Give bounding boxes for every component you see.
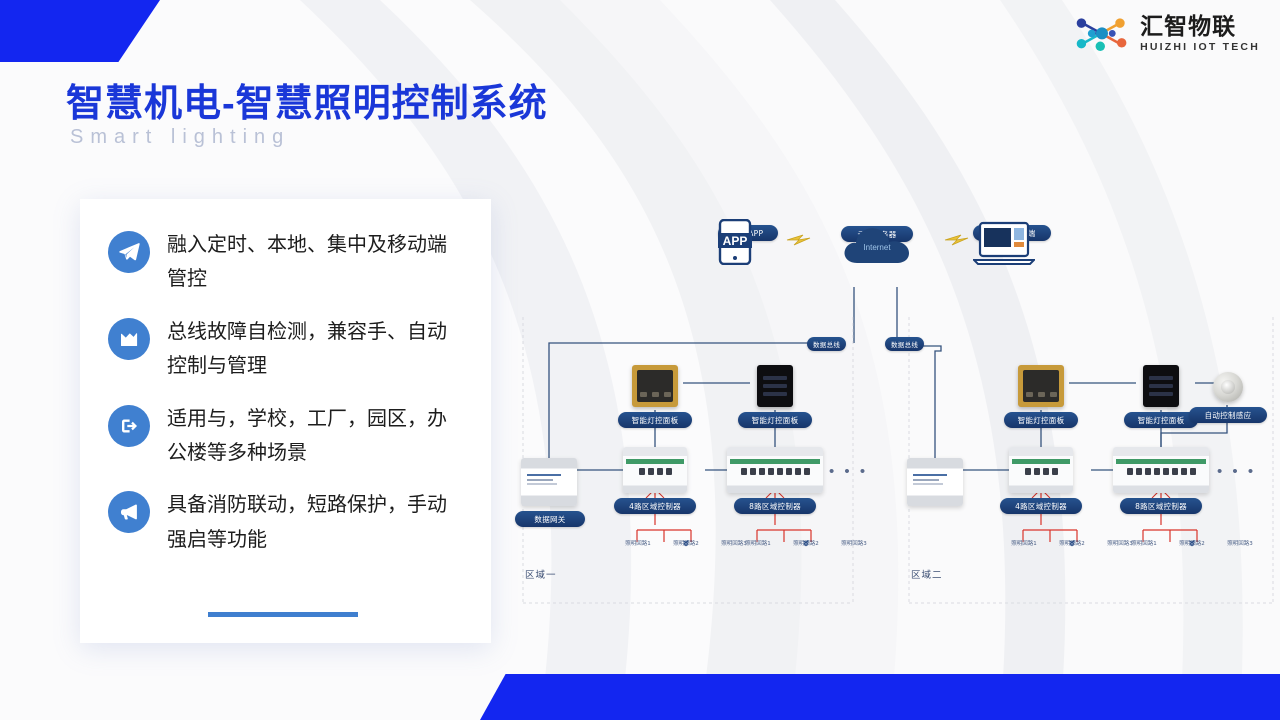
zone-two-gateway [907, 458, 965, 506]
feature-text: 具备消防联动，短路保护，手动强启等功能 [167, 487, 465, 556]
zone-one-gateway: 数据网关 [521, 458, 579, 527]
mobile-app-node: APP 移动APP [718, 219, 778, 241]
smart-light-panel-icon [1018, 365, 1064, 407]
molecule-logo-icon [1072, 12, 1132, 56]
feature-text: 总线故障自检测，兼容手、自动控制与管理 [167, 314, 465, 383]
brand-logo: 汇智物联 HUIZHI IOT TECH [1072, 12, 1260, 56]
chart-line-icon [108, 318, 150, 360]
megaphone-icon [108, 491, 150, 533]
panel-label: 智能灯控面板 [738, 412, 812, 428]
zone-one-panel-gold: 智能灯控面板 [632, 365, 692, 428]
zone-two-controller-8: 8路区域控制器 [1113, 447, 1209, 514]
zone-two-ellipsis: • • • [1217, 463, 1256, 480]
zone-controller-icon [623, 447, 687, 493]
cloud-label-text: Internet [863, 243, 891, 252]
zone-two-circuit-group-a: 照明回路1 照明回路2 照明回路3 [1003, 539, 1141, 547]
feature-item: 总线故障自检测，兼容手、自动控制与管理 [80, 314, 491, 383]
feature-item: 适用与，学校，工厂，园区，办公楼等多种场景 [80, 401, 491, 470]
feature-item: 具备消防联动，短路保护，手动强启等功能 [80, 487, 491, 556]
feature-card: 融入定时、本地、集中及移动端管控 总线故障自检测，兼容手、自动控制与管理 适用与… [80, 199, 491, 643]
logo-name-cn: 汇智物联 [1140, 15, 1260, 38]
panel-label: 智能灯控面板 [1124, 412, 1198, 428]
gateway-label: 数据网关 [515, 511, 585, 527]
zone-two-panel-gold: 智能灯控面板 [1018, 365, 1078, 428]
controller-label: 4路区域控制器 [1000, 498, 1082, 514]
motion-sensor-icon [1213, 372, 1243, 402]
zone-one-panel-black: 智能灯控面板 [757, 365, 812, 428]
panel-label: 智能灯控面板 [1004, 412, 1078, 428]
panel-label: 智能灯控面板 [618, 412, 692, 428]
controller-label: 8路区域控制器 [1120, 498, 1202, 514]
gateway-device-icon [907, 458, 963, 506]
zone-one-label: 区域一 [525, 565, 557, 583]
zone-two-controller-4: 4路区域控制器 [1009, 447, 1073, 514]
zone-two-circuit-group-b: 照明回路1 照明回路2 照明回路3 [1123, 539, 1261, 547]
data-bus-label-right: 数据总线 [885, 337, 924, 351]
zone-one-ellipsis: • • • [829, 463, 868, 480]
zone-two-motion-sensor: 自动控制感应 [1213, 372, 1267, 423]
page-subtitle: Smart lighting [70, 126, 290, 149]
zone-one-controller-8: 8路区域控制器 [727, 447, 823, 514]
zone-two-label: 区域二 [911, 565, 943, 583]
remote-terminal-node: 远程控制终端 [973, 221, 1051, 241]
controller-label: 8路区域控制器 [734, 498, 816, 514]
paper-plane-icon [108, 231, 150, 273]
card-accent-underline [208, 612, 358, 617]
smart-light-panel-icon [632, 365, 678, 407]
feature-text: 融入定时、本地、集中及移动端管控 [167, 227, 465, 296]
zone-one-circuit-group-b: 照明回路1 照明回路2 照明回路3 [737, 539, 875, 547]
circuit-item: 照明回路3 [833, 539, 875, 547]
gateway-device-icon [521, 458, 577, 506]
zone-controller-icon [1009, 447, 1073, 493]
smart-light-panel-icon [757, 365, 793, 407]
bottom-right-accent-shape [480, 674, 1280, 720]
zone-one-controller-4: 4路区域控制器 [623, 447, 687, 514]
zone-controller-icon [1113, 447, 1209, 493]
smart-light-panel-icon [1143, 365, 1179, 407]
circuit-item: 照明回路3 [1219, 539, 1261, 547]
zone-one-circuit-group-a: 照明回路1 照明回路2 照明回路3 [617, 539, 755, 547]
feature-text: 适用与，学校，工厂，园区，办公楼等多种场景 [167, 401, 465, 470]
sensor-label: 自动控制感应 [1189, 407, 1267, 423]
zone-controller-icon [727, 447, 823, 493]
slide-root: 智慧机电-智慧照明控制系统 Smart lighting 汇智物联 HU [0, 0, 1280, 720]
data-bus-label-left: 数据总线 [807, 337, 846, 351]
feature-item: 融入定时、本地、集中及移动端管控 [80, 227, 491, 296]
app-badge-text: APP [723, 234, 748, 248]
logo-name-en: HUIZHI IOT TECH [1140, 42, 1260, 53]
page-title: 智慧机电-智慧照明控制系统 [66, 72, 548, 127]
system-architecture-diagram: APP 移动APP Internet 云端服务器 [505, 205, 1280, 625]
cloud-server-node: Internet 云端服务器 [841, 223, 913, 242]
exit-arrow-icon [108, 405, 150, 447]
controller-label: 4路区域控制器 [614, 498, 696, 514]
